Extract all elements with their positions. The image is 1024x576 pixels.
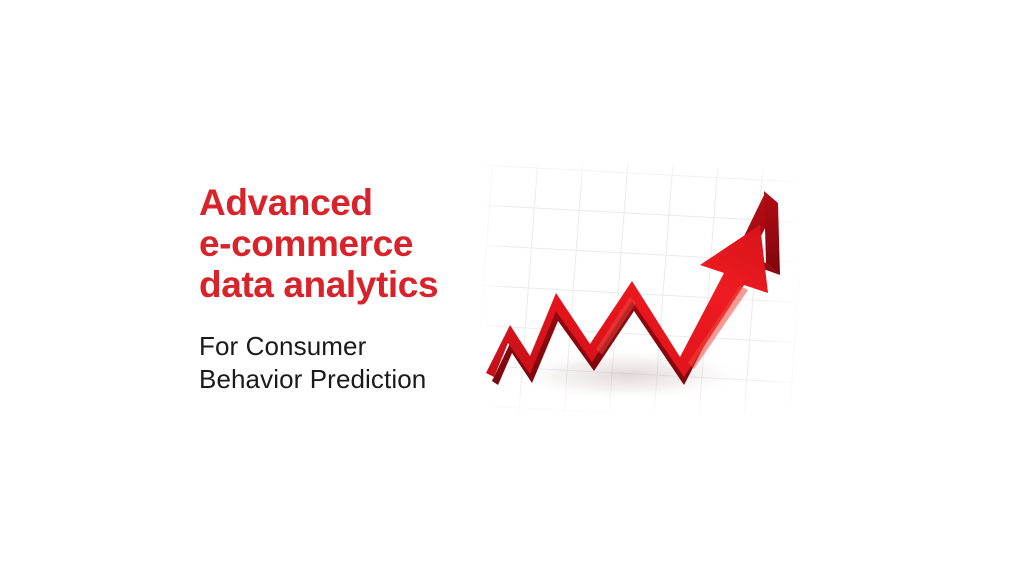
page-subtitle: For Consumer Behavior Prediction: [199, 305, 499, 396]
page-title: Advanced e-commerce data analytics: [199, 182, 499, 305]
growth-arrow-graphic: [478, 163, 800, 413]
text-block: Advanced e-commerce data analytics For C…: [199, 182, 499, 396]
arrow-shadow: [508, 349, 748, 401]
promo-banner: Advanced e-commerce data analytics For C…: [0, 0, 1024, 576]
